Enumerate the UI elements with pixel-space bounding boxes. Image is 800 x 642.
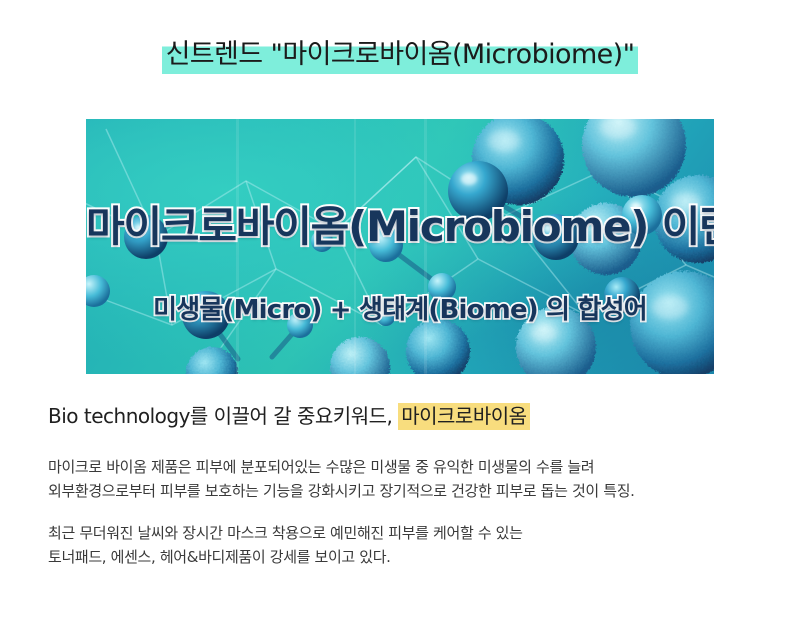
banner-artwork: [86, 119, 714, 374]
lead-prefix: Bio technology를 이끌어 갈 중요키워드,: [48, 404, 398, 428]
paragraph-2-line-2: 토너패드, 에센스, 헤어&바디제품이 강세를 보이고 있다.: [48, 545, 523, 569]
page-title: 신트렌드 "마이크로바이옴(Microbiome)": [162, 36, 639, 74]
page-title-row: 신트렌드 "마이크로바이옴(Microbiome)": [0, 36, 800, 74]
lead-highlight-keyword: 마이크로바이옴: [398, 403, 529, 430]
paragraph-2-line-1: 최근 무더워진 날씨와 장시간 마스크 착용으로 예민해진 피부를 케어할 수 …: [48, 521, 523, 545]
paragraph-1-line-1: 마이크로 바이옴 제품은 피부에 분포되어있는 수많은 미생물 중 유익한 미생…: [48, 455, 635, 479]
paragraph-2: 최근 무더워진 날씨와 장시간 마스크 착용으로 예민해진 피부를 케어할 수 …: [48, 521, 523, 569]
paragraph-1: 마이크로 바이옴 제품은 피부에 분포되어있는 수많은 미생물 중 유익한 미생…: [48, 455, 635, 503]
paragraph-1-line-2: 외부환경으로부터 피부를 보호하는 기능을 강화시키고 장기적으로 건강한 피부…: [48, 479, 635, 503]
microbiome-banner: 마이크로바이옴(Microbiome) 이란? 미생물(Micro) + 생태계…: [86, 119, 714, 374]
lead-line: Bio technology를 이끌어 갈 중요키워드, 마이크로바이옴: [48, 401, 530, 431]
